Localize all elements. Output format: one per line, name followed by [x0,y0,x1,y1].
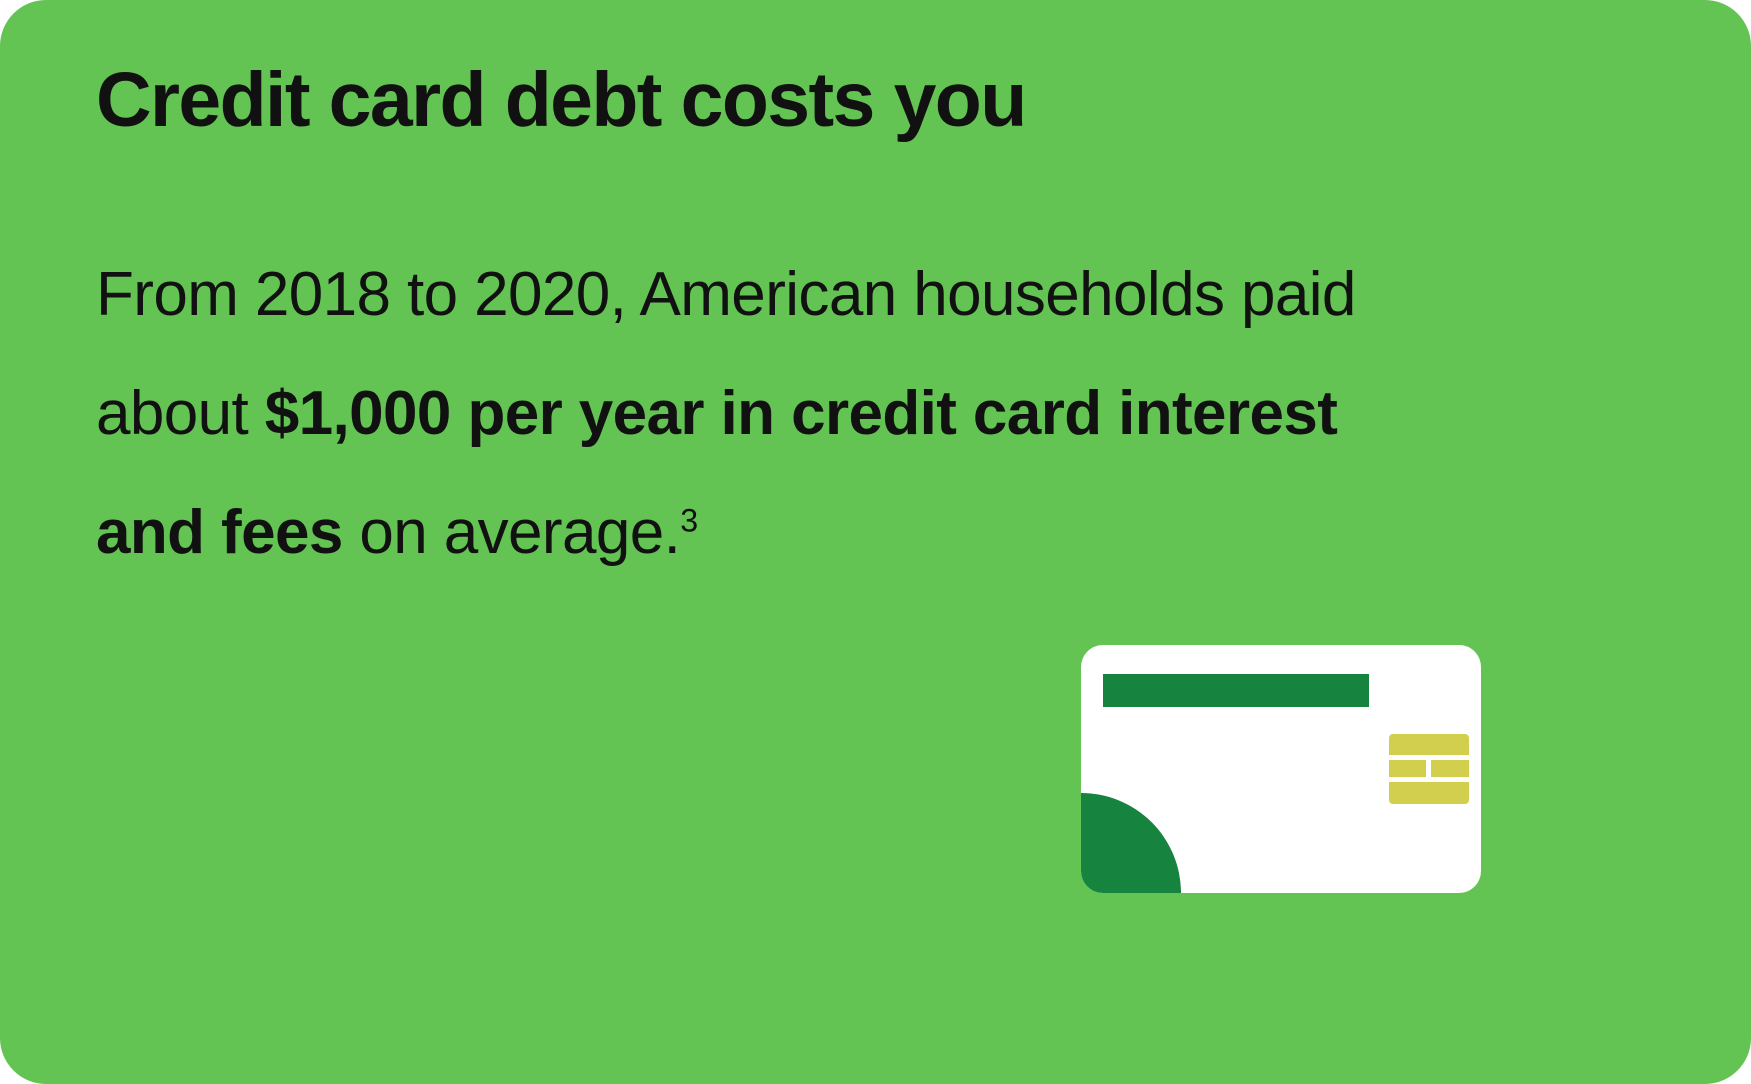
chip-contact-line-vertical [1426,755,1431,782]
footnote-reference: 3 [680,502,697,538]
body-paragraph: From 2018 to 2020, American households p… [96,235,1461,592]
panel-content: Credit card debt costs you From 2018 to … [96,62,1496,592]
card-emv-chip-icon [1389,734,1469,804]
body-text-trailing: on average. [343,498,681,567]
card-corner-accent-icon [1081,793,1181,893]
card-magnetic-stripe [1103,674,1369,707]
credit-card-icon [1081,645,1481,893]
page-title: Credit card debt costs you [96,62,1496,139]
body-text-emphasis: $1,000 per year in credit card interest … [96,379,1337,567]
green-info-panel: Credit card debt costs you From 2018 to … [0,0,1751,1084]
